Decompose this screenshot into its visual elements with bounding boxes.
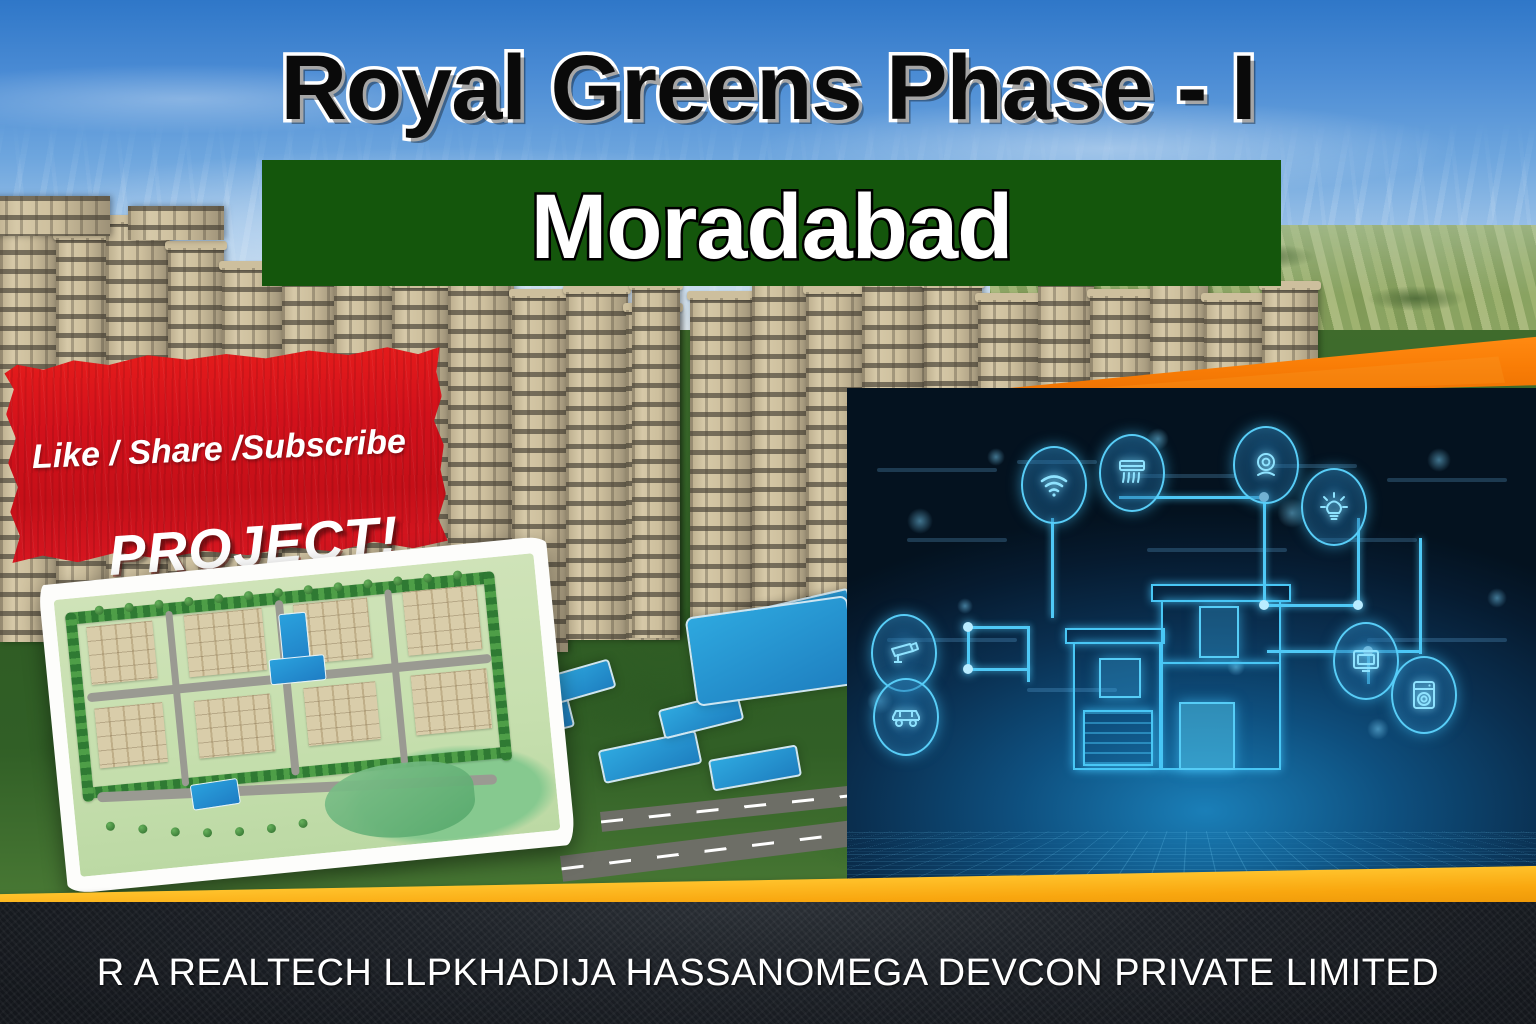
wire bbox=[967, 626, 1029, 629]
site-plan-drawing bbox=[54, 553, 561, 877]
webcam-icon bbox=[1233, 426, 1299, 504]
monitor-icon bbox=[1333, 622, 1399, 700]
house-upper-window bbox=[1199, 606, 1239, 658]
wire bbox=[1027, 626, 1030, 682]
green-belt bbox=[483, 571, 512, 761]
tree bbox=[170, 827, 180, 837]
lightbulb-icon bbox=[1301, 468, 1367, 546]
house-outline bbox=[1065, 584, 1365, 776]
tower bbox=[752, 278, 810, 638]
tree bbox=[235, 827, 245, 837]
rooftop-block bbox=[128, 206, 224, 240]
villa-cluster bbox=[184, 608, 268, 677]
page-title: Royal Greens Phase - I bbox=[0, 36, 1536, 141]
developer-names: R A REALTECH LLPKHADIJA HASSANOMEGA DEVC… bbox=[0, 952, 1536, 995]
air-conditioner-icon bbox=[1099, 434, 1165, 512]
connection-node bbox=[1353, 600, 1363, 610]
connection-node bbox=[963, 664, 973, 674]
city-name: Moradabad bbox=[531, 181, 1013, 273]
city-banner: Moradabad bbox=[262, 160, 1281, 286]
tree bbox=[105, 821, 115, 831]
wire bbox=[1419, 538, 1422, 654]
club-pool bbox=[268, 654, 326, 685]
garage-door bbox=[1083, 710, 1153, 766]
footer-bar: R A REALTECH LLPKHADIJA HASSANOMEGA DEVC… bbox=[0, 902, 1536, 1024]
wire bbox=[1263, 604, 1359, 607]
connection-node bbox=[963, 622, 973, 632]
tree bbox=[298, 818, 308, 828]
car-icon bbox=[873, 678, 939, 756]
smart-home-illustration bbox=[847, 388, 1536, 880]
tower bbox=[690, 298, 754, 640]
wire bbox=[1051, 518, 1054, 618]
wifi-icon bbox=[1021, 446, 1087, 524]
rooftop-block bbox=[0, 196, 110, 236]
tree bbox=[203, 828, 213, 838]
master-site-plan-sheet bbox=[38, 536, 576, 894]
tower bbox=[566, 292, 628, 640]
villa-cluster bbox=[402, 585, 482, 656]
washing-machine-icon bbox=[1391, 656, 1457, 734]
connection-node bbox=[1259, 600, 1269, 610]
poster-canvas: Royal Greens Phase - I Moradabad Like / … bbox=[0, 0, 1536, 1024]
wire bbox=[1263, 496, 1266, 606]
front-door bbox=[1179, 702, 1235, 770]
house-window bbox=[1099, 658, 1141, 698]
tennis-court bbox=[190, 778, 241, 811]
villa-cluster bbox=[94, 702, 168, 768]
villa-cluster bbox=[411, 668, 492, 735]
villa-cluster bbox=[303, 681, 380, 746]
tower bbox=[632, 288, 680, 638]
villa-cluster bbox=[86, 621, 157, 685]
wire bbox=[967, 668, 1029, 671]
villa-cluster bbox=[194, 694, 275, 759]
tree bbox=[138, 824, 148, 834]
tree bbox=[266, 824, 276, 834]
